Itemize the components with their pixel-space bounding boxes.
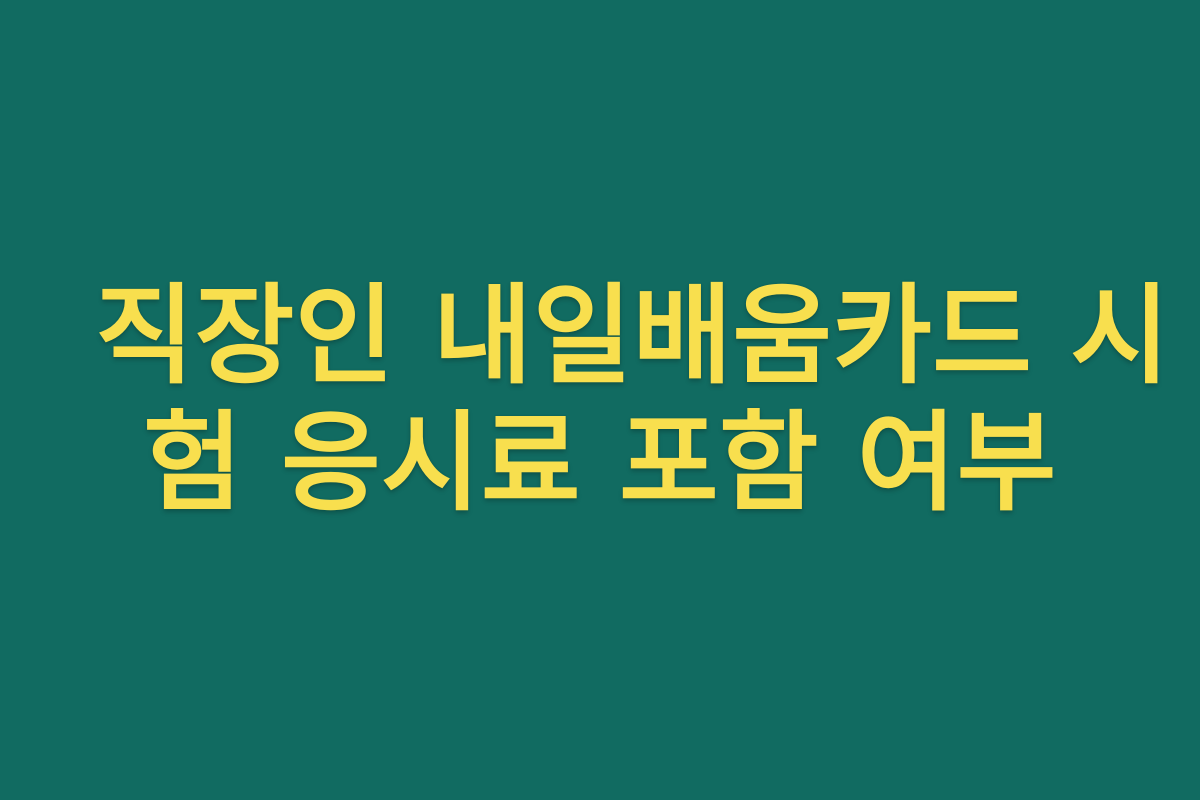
headline-line-1: 직장인 내일배움카드 시 <box>95 273 1105 400</box>
headline: 직장인 내일배움카드 시 험 응시료 포함 여부 <box>95 273 1105 528</box>
headline-line-2: 험 응시료 포함 여부 <box>95 400 1105 527</box>
text-banner: 직장인 내일배움카드 시 험 응시료 포함 여부 <box>0 0 1200 800</box>
